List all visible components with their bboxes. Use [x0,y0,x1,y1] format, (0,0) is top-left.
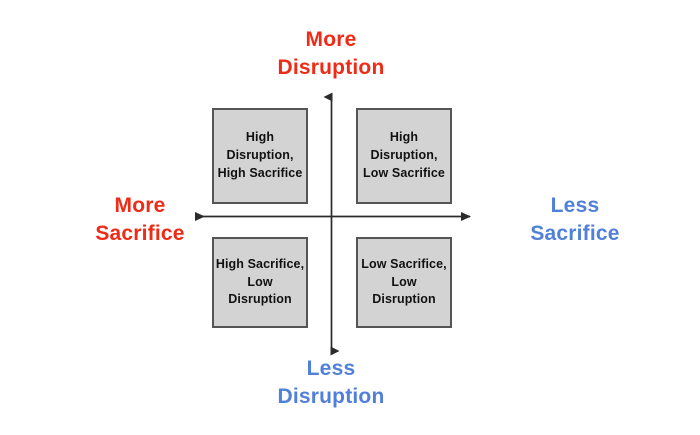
axis-label-less-sacrifice-line2: Sacrifice [490,220,660,248]
quadrant-bl-line3: Low [247,275,272,289]
axis-label-less-disruption-line1: Less [231,355,431,383]
quadrant-box-bottom-left: High Sacrifice, Low Disruption [212,237,308,328]
quadrant-br-line1: Low [361,257,386,271]
quadrant-box-top-left: High Disruption, High Sacrifice [212,108,308,204]
axis-label-less-disruption: Less Disruption [231,355,431,410]
quadrant-tr-line1: High [390,130,418,144]
axis-label-less-disruption-line2: Disruption [231,383,431,411]
axis-label-more-disruption: More Disruption [231,26,431,81]
quadrant-br-line4: Disruption [372,292,436,306]
axis-label-more-sacrifice-line2: Sacrifice [60,220,220,248]
quadrant-bl-line4: Disruption [228,292,292,306]
quadrant-box-top-right-text: High Disruption, Low Sacrifice [358,129,450,182]
axis-label-less-sacrifice: Less Sacrifice [490,192,660,247]
quadrant-tl-line2: Disruption, [226,148,293,162]
quadrant-tl-line1: High [246,130,274,144]
axis-label-more-disruption-line1: More [231,26,431,54]
axis-label-more-sacrifice: More Sacrifice [60,192,220,247]
quadrant-tl-line3: High [218,166,246,180]
quadrant-diagram-canvas: More Disruption Less Disruption More Sac… [0,0,700,435]
quadrant-br-line3: Low [391,275,416,289]
quadrant-box-top-right: High Disruption, Low Sacrifice [356,108,452,204]
axis-label-more-disruption-line2: Disruption [231,54,431,82]
axis-label-less-sacrifice-line1: Less [490,192,660,220]
quadrant-box-bottom-right: Low Sacrifice, Low Disruption [356,237,452,328]
quadrant-bl-line1: High [216,257,244,271]
quadrant-tl-line4: Sacrifice [249,166,302,180]
axis-label-more-sacrifice-line1: More [60,192,220,220]
quadrant-box-top-left-text: High Disruption, High Sacrifice [214,129,306,182]
quadrant-box-bottom-left-text: High Sacrifice, Low Disruption [214,256,306,309]
quadrant-bl-line2: Sacrifice, [248,257,305,271]
quadrant-box-bottom-right-text: Low Sacrifice, Low Disruption [358,256,450,309]
quadrant-tr-line2: Disruption, [370,148,437,162]
quadrant-tr-line3: Low [363,166,388,180]
quadrant-tr-line4: Sacrifice [392,166,445,180]
quadrant-br-line2: Sacrifice, [390,257,447,271]
